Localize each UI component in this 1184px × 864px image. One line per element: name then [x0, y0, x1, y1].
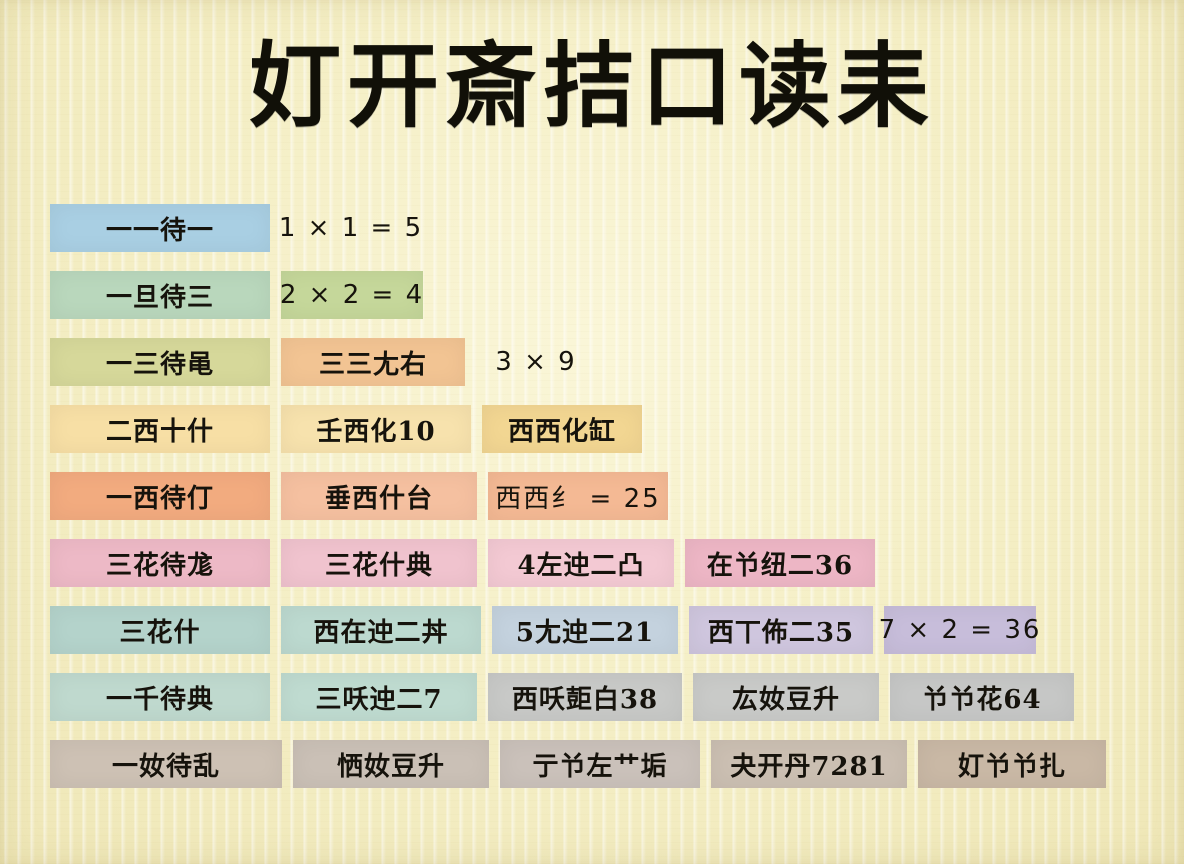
table-cell: 7 × 2 = 36 — [884, 606, 1036, 654]
table-cell: 奵兯兯扎 — [918, 740, 1106, 788]
table-cell: 亍兯左艹垢 — [500, 740, 700, 788]
table-cell: 一千待典 — [50, 673, 270, 721]
table-cell: 4左迚二凸 — [488, 539, 674, 587]
table-row: 二西十什壬西化10西西化缸 — [50, 405, 1117, 453]
table-cell: 西丅佈二35 — [689, 606, 873, 654]
poster-sheet: 奵开斎拮口读耒 一一待一1 × 1 = 5一旦待三2 × 2 = 4一三待黾三三… — [0, 0, 1184, 864]
table-cell: 西㕭壾白38 — [488, 673, 682, 721]
table-cell: 三花什 — [50, 606, 270, 654]
table-cell: 一三待黾 — [50, 338, 270, 386]
table-row: 一三待黾三三尢右3 × 9 — [50, 338, 1117, 386]
table-cell: 西西纟 = 25 — [488, 472, 668, 520]
multiplication-table: 一一待一1 × 1 = 5一旦待三2 × 2 = 4一三待黾三三尢右3 × 9二… — [50, 204, 1117, 807]
table-cell: 一西待仃 — [50, 472, 270, 520]
table-cell: 厷奻豆升 — [693, 673, 879, 721]
table-cell: 一旦待三 — [50, 271, 270, 319]
table-row: 一西待仃垂西什台西西纟 = 25 — [50, 472, 1117, 520]
table-cell: 西在迚二丼 — [281, 606, 481, 654]
page-title: 奵开斎拮口读耒 — [0, 38, 1184, 135]
table-cell: 二西十什 — [50, 405, 270, 453]
table-row: 一一待一1 × 1 = 5 — [50, 204, 1117, 252]
table-cell: 三花什典 — [281, 539, 477, 587]
table-cell: 西西化缸 — [482, 405, 642, 453]
table-cell: 5尢迚二21 — [492, 606, 678, 654]
table-cell: 夬开丹7281 — [711, 740, 907, 788]
table-cell: 兯兯花64 — [890, 673, 1074, 721]
table-cell: 三花待尨 — [50, 539, 270, 587]
table-cell: 在兯纽二36 — [685, 539, 875, 587]
table-row: 一千待典三㕭迚二7西㕭壾白38厷奻豆升兯兯花64 — [50, 673, 1117, 721]
table-cell: 2 × 2 = 4 — [281, 271, 423, 319]
table-row: 一奻待乱恓奻豆升亍兯左艹垢夬开丹7281奵兯兯扎 — [50, 740, 1117, 788]
table-row: 三花什西在迚二丼5尢迚二21西丅佈二357 × 2 = 36 — [50, 606, 1117, 654]
table-cell-plain: 1 × 1 = 5 — [281, 204, 421, 252]
table-cell: 壬西化10 — [281, 405, 471, 453]
table-cell: 三㕭迚二7 — [281, 673, 477, 721]
table-cell: 三三尢右 — [281, 338, 465, 386]
table-cell: 垂西什台 — [281, 472, 477, 520]
table-cell: 一一待一 — [50, 204, 270, 252]
table-cell: 一奻待乱 — [50, 740, 282, 788]
table-cell: 恓奻豆升 — [293, 740, 489, 788]
table-row: 三花待尨三花什典4左迚二凸在兯纽二36 — [50, 539, 1117, 587]
table-row: 一旦待三2 × 2 = 4 — [50, 271, 1117, 319]
table-cell-plain: 3 × 9 — [476, 338, 596, 386]
